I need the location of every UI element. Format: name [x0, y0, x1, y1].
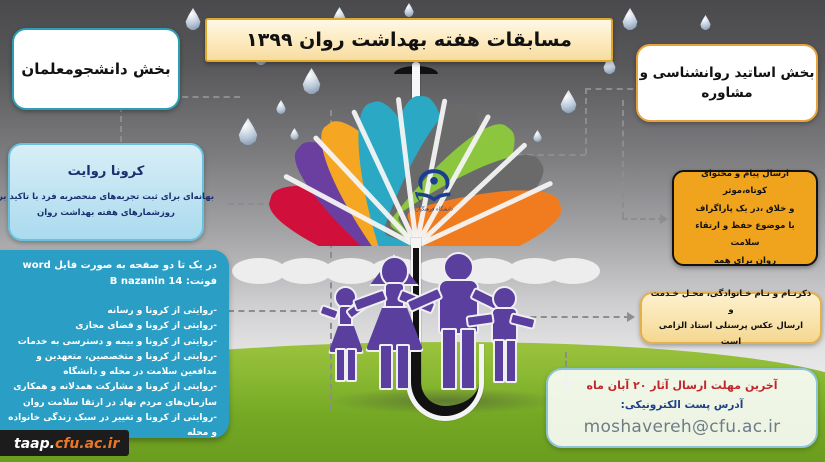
required-info-line-2: ارسال عکس پرسنلی استاد الزامی است: [649, 318, 813, 350]
footer-url[interactable]: taap.cfu.ac.ir: [0, 430, 129, 456]
poster-title-text: مسابقات هفته بهداشت روان ۱۳۹۹: [246, 29, 572, 51]
family-figures: [326, 250, 516, 400]
section-label-faculty: بخش اساتید روانشناسی و مشاوره: [636, 44, 818, 122]
spec-font-line: فونت: B nazanin 14: [0, 274, 217, 290]
family-figure-boy: [482, 286, 524, 390]
message-requirements-body: ارسال پیام و محتوای کوتاه،موثر و خلاق ،د…: [682, 166, 808, 271]
svg-text:دانشگاه فرهنگیان: دانشگاه فرهنگیان: [415, 206, 453, 213]
topic-item: -روایتی از کرونا و بیمه و دسترسی به خدما…: [0, 335, 217, 350]
connector-line: [520, 316, 630, 318]
section-label-students: بخش دانشجومعلمان: [12, 28, 180, 110]
rain-drop-icon: [622, 8, 638, 30]
poster-canvas: دانشگاه فرهنگیان: [0, 0, 825, 462]
narrative-line-1: بهانه‌ای برای ثبت تجربه‌های منحصربه فرد …: [0, 190, 214, 206]
email-address: moshavereh@cfu.ac.ir: [584, 417, 781, 437]
topic-item: -روایتی از کرونا و متخصصین، متعهدین و مد…: [0, 350, 217, 381]
connector-arrow-icon: [660, 214, 668, 224]
rain-drop-icon: [185, 8, 201, 30]
footer-url-suffix: cfu.ac.ir: [55, 436, 119, 452]
topic-item: -روایتی از کرونا و مشارکت همدلانه و همکا…: [0, 380, 217, 411]
contact-box: آخرین مهلت ارسال آثار ۲۰ آبان ماه آدرس پ…: [546, 368, 818, 448]
message-requirements-box: ارسال پیام و محتوای کوتاه،موثر و خلاق ،د…: [672, 170, 818, 266]
deadline-text: آخرین مهلت ارسال آثار ۲۰ آبان ماه: [587, 377, 778, 395]
umbrella-graphic: دانشگاه فرهنگیان: [236, 62, 596, 272]
message-line-2: و خلاق ،در یک پاراگراف: [682, 201, 808, 218]
rain-drop-icon: [700, 15, 711, 30]
required-info-line-1: ذکرنـام و نـام خـانوادگی، محـل خـدمت و: [649, 286, 813, 318]
spec-format: در یک تا دو صفحه به صورت فایل word فونت:…: [0, 258, 217, 290]
narrative-body: بهانه‌ای برای ثبت تجربه‌های منحصربه فرد …: [0, 190, 214, 221]
poster-title: مسابقات هفته بهداشت روان ۱۳۹۹: [205, 18, 613, 62]
topic-item: -روایتی از کرونا و رسانه: [0, 304, 217, 319]
section-label-faculty-text: بخش اساتید روانشناسی و مشاوره: [638, 63, 816, 104]
footer-url-prefix: taap.: [14, 436, 55, 452]
submission-spec-box: در یک تا دو صفحه به صورت فایل word فونت:…: [0, 250, 229, 438]
umbrella-canopy: دانشگاه فرهنگیان: [236, 96, 596, 246]
message-line-3: با موضوع حفظ و ارتقاء سلامت: [682, 218, 808, 253]
narrative-heading: کرونا روایت: [68, 162, 145, 182]
narrative-line-2: روزشمارهای هفته بهداشت روان: [0, 206, 214, 222]
narrative-box: کرونا روایت بهانه‌ای برای ثبت تجربه‌های …: [8, 143, 204, 241]
topic-list: -روایتی از کرونا و رسانه -روایتی از کرون…: [0, 304, 217, 442]
section-label-students-text: بخش دانشجومعلمان: [21, 58, 170, 81]
required-info-box: ذکرنـام و نـام خـانوادگی، محـل خـدمت و ا…: [640, 292, 822, 344]
spec-format-line: در یک تا دو صفحه به صورت فایل word: [0, 258, 217, 274]
rain-drop-icon: [404, 3, 414, 17]
email-label: آدرس پست الکترونیکی:: [621, 397, 744, 414]
connector-line: [622, 218, 664, 220]
required-info-body: ذکرنـام و نـام خـانوادگی، محـل خـدمت و ا…: [649, 286, 813, 351]
topic-item: -روایتی از کرونا و فضای مجازی: [0, 319, 217, 334]
connector-arrow-icon: [627, 312, 635, 322]
university-logo-icon: دانشگاه فرهنگیان: [408, 164, 460, 214]
message-line-4: روان برای همه: [682, 253, 808, 270]
family-figure-mother: [363, 252, 423, 390]
message-line-1: ارسال پیام و محتوای کوتاه،موثر: [682, 166, 808, 201]
connector-line: [622, 100, 624, 218]
canopy-scallop: [546, 258, 600, 284]
